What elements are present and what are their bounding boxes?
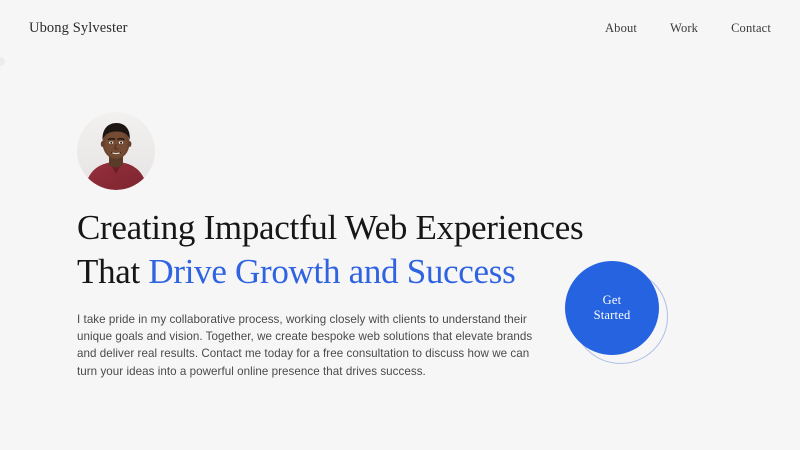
headline-line-2-accent: Drive Growth and Success <box>148 252 515 291</box>
headline-line-2-plain: That <box>77 252 148 291</box>
nav-link-contact[interactable]: Contact <box>731 21 771 36</box>
decorative-dot <box>0 57 5 66</box>
avatar-portrait-image <box>77 112 155 190</box>
main-nav: About Work Contact <box>605 21 771 36</box>
nav-link-about[interactable]: About <box>605 21 637 36</box>
site-header: Ubong Sylvester About Work Contact <box>0 0 800 56</box>
cta-label-line-2: Started <box>594 308 631 323</box>
avatar <box>77 112 155 190</box>
hero-paragraph: I take pride in my collaborative process… <box>77 311 539 380</box>
nav-link-work[interactable]: Work <box>670 21 698 36</box>
headline-line-1: Creating Impactful Web Experiences <box>77 208 583 247</box>
cta-label-line-1: Get <box>603 293 622 308</box>
brand-logo[interactable]: Ubong Sylvester <box>29 20 128 37</box>
cta-container: Get Started <box>565 261 675 371</box>
get-started-button[interactable]: Get Started <box>565 261 659 355</box>
page-root: Ubong Sylvester About Work Contact <box>0 0 800 450</box>
